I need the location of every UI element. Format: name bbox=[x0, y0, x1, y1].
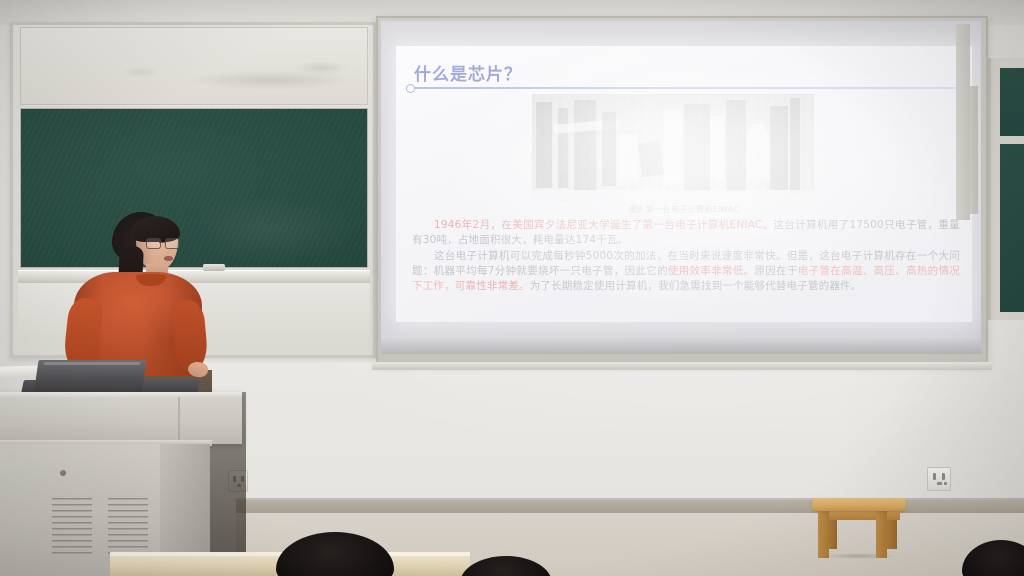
slide-body-text: 1946年2月，在美国宾夕法尼亚大学诞生了第一台电子计算机ENIAC。这台计算机… bbox=[412, 218, 960, 295]
stool-apron bbox=[818, 511, 900, 520]
lectern-vent-right bbox=[108, 498, 148, 554]
slide-paragraph-1: 1946年2月，在美国宾夕法尼亚大学诞生了第一台电子计算机ENIAC。这台计算机… bbox=[412, 218, 960, 248]
right-blackboard-lower bbox=[1000, 144, 1024, 312]
lectern-vent-left bbox=[52, 498, 92, 554]
slide-title-rule bbox=[410, 87, 958, 89]
slide-run-birth: 在美国宾夕法尼亚大学诞生了第一台电子计算机ENIAC。 bbox=[501, 219, 773, 231]
lectern-knob[interactable] bbox=[60, 470, 66, 476]
screen-bottom-shadow bbox=[381, 336, 981, 354]
screen-right-frame-strip-inner bbox=[968, 86, 978, 214]
slide-title-bullet-icon bbox=[406, 84, 415, 93]
right-blackboard-upper bbox=[1000, 68, 1024, 136]
slide-title: 什么是芯片？ bbox=[414, 60, 522, 85]
slide-photo-caption: 图9 第一台电子计算机ENIAC bbox=[396, 204, 972, 215]
presenter-eyeglasses bbox=[146, 238, 180, 247]
slide-run-reliability: 可靠性非常差。 bbox=[455, 280, 530, 292]
stool-leg-front-right bbox=[876, 511, 887, 558]
wall-outlet-right[interactable] bbox=[927, 467, 951, 491]
slide-run-reason: 原因在于 bbox=[754, 265, 797, 277]
lectern-top-edge bbox=[0, 392, 242, 397]
slide-run-need: 为了长期稳定使用计算机，我们急需找到一个能够代替电子管的器件。 bbox=[530, 280, 862, 292]
whiteboard-smudges bbox=[21, 28, 367, 104]
screen-sill bbox=[372, 362, 992, 370]
laptop-lid-highlight bbox=[44, 362, 140, 365]
photo-projector-washout bbox=[532, 94, 814, 202]
lecture-hall-screenshot: 什么是芯片？ 图9 第一 bbox=[0, 0, 1024, 576]
projection-screen-surface[interactable]: 什么是芯片？ 图9 第一 bbox=[381, 21, 981, 354]
presenter-mouth bbox=[164, 256, 173, 261]
lectern-top[interactable] bbox=[0, 392, 242, 444]
stool-leg-front-left bbox=[818, 511, 829, 558]
slide-run-efficiency: 使用效率非常低。 bbox=[668, 265, 755, 277]
slide-run-date: 1946年2月， bbox=[434, 219, 501, 231]
projected-slide[interactable]: 什么是芯片？ 图9 第一 bbox=[396, 46, 972, 322]
eniac-photo bbox=[532, 94, 814, 202]
wooden-stool[interactable] bbox=[812, 498, 906, 511]
slide-paragraph-2: 这台电子计算机可以完成每秒钟5000次的加法，在当时来说速度非常快。但是，这台电… bbox=[412, 249, 960, 294]
laptop-on-lectern[interactable] bbox=[33, 360, 146, 396]
lectern-top-seam bbox=[178, 397, 180, 441]
whiteboard bbox=[20, 27, 368, 105]
